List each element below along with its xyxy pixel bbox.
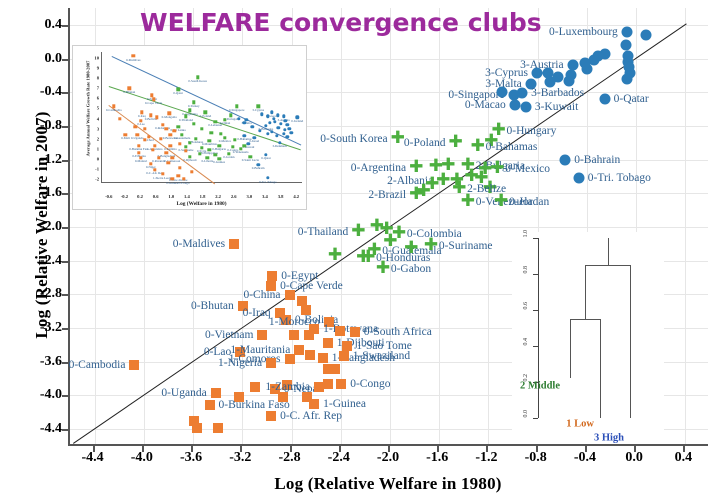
dendrogram-tick-label: 0.6 [523,302,529,318]
dendrogram-stem-middle-low [585,265,586,319]
point-label: 0-Maldives [173,238,225,250]
point-label: 3-Kuwait [535,101,578,113]
y-tick-label: -4.0 [0,387,62,403]
data-point-1-low [266,358,276,368]
inset-point-label: 0-Poland [200,114,212,118]
inset-point-label: 0-Maldives [126,58,141,62]
inset-y-tick-label: 10 [89,56,99,61]
point-label: 0-Bahrain [574,154,620,166]
x-tick-label: -2.8 [278,450,300,466]
data-point-1-low [205,400,215,410]
inset-data-point [155,116,158,119]
data-point-3-high [579,57,590,68]
inset-y-tick-label: 6 [89,96,99,101]
inset-point-label: 0-Lao [137,122,145,126]
y-tick-label: -2.8 [0,286,62,302]
inset-data-point [288,127,291,130]
data-point-2-middle: ✚ [376,263,388,275]
point-label: 0-Congo [350,378,390,390]
y-tick-label: -2.0 [0,219,62,235]
inset-point-label: 3-Cyprus [252,108,264,112]
y-tick-label: 0.4 [0,17,62,33]
x-tick-label: -2.4 [328,450,350,466]
inset-point-label: 0-Lebanon [208,123,222,127]
y-tick-mark [62,193,68,195]
inset-point-label: 0-Bahrain [252,166,265,170]
inset-data-point [143,138,146,141]
inset-x-tick-label: 1.8 [200,194,206,199]
y-tick-mark [62,160,68,162]
y-tick-mark [62,261,68,263]
title-bold-word: WELFARE [140,8,270,37]
inset-point-label: 0-Tri. Tobago [259,180,277,184]
inset-point-label: 0-Qatar [261,156,271,160]
point-label: 1-Guinea [323,398,366,410]
data-point-3-high [563,76,574,87]
point-label: 0-Cambodia [69,359,126,371]
dendrogram-leaf-label-1-low: 1 Low [566,419,594,430]
inset-point-label: 0-Uganda [131,136,144,140]
inset-point-label: 0-Mongolia [162,115,177,119]
inset-data-point [167,161,170,164]
x-tick-label: -4.0 [131,450,153,466]
inset-y-tick-label: 5 [89,106,99,111]
point-label: 0-Macao [465,99,506,111]
data-point-2-middle: ✚ [448,137,460,149]
point-label: 0-Thailand [298,226,348,238]
point-label: 0-Jordan [509,196,549,208]
inset-point-label: 0-Bulgaria [212,147,226,151]
inset-data-point [151,148,154,151]
inset-point-label: 0-Saint Lucia [242,158,259,162]
point-label: 0-Qatar [614,93,649,105]
inset-point-label: 0-Singapore [229,108,245,112]
point-label: 0-Uganda [161,387,206,399]
inset-data-point [178,142,181,145]
data-point-2-middle: ✚ [494,196,506,208]
inset-data-point [276,114,279,117]
inset-point-label: 0-Congo [178,181,189,185]
inset-x-tick-label: 3.8 [278,194,284,199]
x-tick-label: -3.6 [180,450,202,466]
inset-data-point [192,122,195,125]
y-tick-mark [62,294,68,296]
point-label: 1-Nigeria [218,357,262,369]
inset-y-tick-label: 3 [89,126,99,131]
data-point-1-low [211,388,221,398]
inset-data-point [210,131,213,134]
point-label: 0-C. Afr. Rep [280,410,342,422]
inset-y-tick-label: 0 [89,156,99,161]
y-tick-label: -3.2 [0,320,62,336]
data-point-2-middle: ✚ [404,243,416,255]
y-tick-label: -0.4 [0,84,62,100]
inset-data-point [290,131,293,134]
x-gridline [685,8,686,444]
inset-data-point [200,127,203,130]
inset-point-label: 0-Thailand [179,118,193,122]
inset-x-tick-label: 2.6 [231,194,237,199]
data-point-1-low [250,382,260,392]
inset-data-point [219,132,222,135]
inset-point-label: 0-Israel [249,139,259,143]
inset-point-label: 0-Jordan [223,155,234,159]
data-point-1-low [229,239,239,249]
data-point-3-high [573,173,584,184]
point-label: 0-South Korea [320,133,387,145]
data-point-3-high [531,67,542,78]
inset-point-label: 0-Guinea [166,181,178,185]
inset-point-label: 0-Iceland [291,119,303,123]
x-gridline [439,8,440,444]
dendrogram-root-stem [608,238,609,265]
point-label: 2-Brazil [368,189,406,201]
inset-point-label: 0-Qatar [173,91,183,95]
inset-y-tick-label: 1 [89,146,99,151]
inset-data-point [266,132,269,135]
inset-x-tick-label: -0.6 [105,194,112,199]
inset-data-point [184,149,187,152]
x-tick-label: -1.6 [426,450,448,466]
data-point-3-high [520,102,531,113]
point-label: 0-Luxembourg [549,26,618,38]
inset-x-tick-label: 1.4 [184,194,190,199]
data-point-1-low [257,330,267,340]
y-tick-label: -0.8 [0,118,62,134]
point-label: 0-Hungary [507,125,557,137]
inset-y-tick-label: 9 [89,66,99,71]
dendrogram-tick-label: 0.8 [523,266,529,282]
inset-point-label: 1-Argentina [147,147,162,151]
x-tick-label: -3.2 [229,450,251,466]
y-tick-mark [62,59,68,61]
point-label: 0-Argentina [351,162,406,174]
dendrogram-tick-label: 0.0 [523,410,529,426]
data-point-2-middle: ✚ [409,189,421,201]
inset-point-label: 0-Cambodia [106,108,122,112]
inset-x-tick-label: 0.6 [153,194,159,199]
data-point-2-middle: ✚ [356,252,368,264]
point-label: 0-Suriname [439,240,493,252]
title-rest: convergence clubs [279,8,541,37]
data-point-3-high [641,29,652,40]
dendrogram-branch-low [600,319,601,418]
dendrogram-leaf-label-3-high: 3 High [594,433,624,444]
inset-data-point [188,141,191,144]
data-point-2-middle: ✚ [391,133,403,145]
point-label: 0-China [243,289,280,301]
inset-data-point [283,128,286,131]
data-point-1-low [323,379,333,389]
data-point-1-low [305,350,315,360]
y-tick-mark [62,92,68,94]
inset-point-label: 0-Liberia [201,159,213,163]
inset-point-label: 0-Mali [121,136,130,140]
data-point-1-low [323,338,333,348]
data-point-2-middle: ✚ [471,141,483,153]
inset-point-label: 0-South Korea [188,79,207,83]
y-tick-mark [62,395,68,397]
inset-x-tick-label: 0.2 [137,194,143,199]
inset-growth-scatter: Average Annual Welfare Growth Rate 1980-… [72,45,307,210]
inset-data-point [190,170,193,173]
inset-y-tick-label: 8 [89,76,99,81]
x-tick-label: -4.4 [82,450,104,466]
inset-y-tick-label: -2 [89,176,99,181]
inset-point-label: 0-Rwanda [152,159,165,163]
inset-data-point [282,132,285,135]
y-tick-mark [62,328,68,330]
y-tick-mark [62,227,68,229]
x-tick-label: -0.8 [525,450,547,466]
data-point-1-low [330,364,340,374]
inset-point-label: 0-Malawi [135,159,147,163]
data-point-3-high [543,67,554,78]
inset-point-label: 0-Guinea [213,160,225,164]
point-label: 0-Gabon [391,263,431,275]
inset-point-label: 3-Denmark [272,144,287,148]
inset-point-label: 0-Mexico [219,139,231,143]
data-point-3-high [509,99,520,110]
dendrogram-branch-high [630,265,631,418]
y-tick-label: -1.6 [0,185,62,201]
dendrogram-leaf-label-2-middle: 2 Middle [520,381,560,392]
y-tick-mark [62,25,68,27]
data-point-3-high [621,73,632,84]
data-point-1-low [213,423,223,433]
data-point-3-high [620,40,631,51]
data-point-2-middle: ✚ [490,163,502,175]
data-point-1-low [266,411,276,421]
dendrogram-tick-label: 1.0 [523,230,529,246]
dendrogram-tick-label: 0.4 [523,338,529,354]
data-point-2-middle: ✚ [461,196,473,208]
data-point-1-low [294,345,304,355]
y-tick-label: -2.4 [0,253,62,269]
point-label: 0-Mexico [505,163,550,175]
point-label: 0-Bhutan [191,300,234,312]
data-point-1-low [335,326,345,336]
y-tick-label: -1.2 [0,152,62,168]
inset-plot-area: 0-Maldives0-South Korea0-Bhutan0-Qatar0-… [101,52,302,183]
point-label: 0-Lao [204,346,231,358]
data-point-2-middle: ✚ [409,162,421,174]
inset-point-label: 0-Bhutan [123,90,135,94]
y-tick-label: -3.6 [0,354,62,370]
dendrogram-join-middle-low [570,319,601,320]
inset-x-axis-title: Log (Welfare in 1980) [101,201,302,207]
inset-data-point [258,129,261,132]
data-point-1-low [336,379,346,389]
point-label: 0-Tri. Tobago [588,172,651,184]
data-point-3-high [560,154,571,165]
x-tick-label: 0.4 [675,450,693,466]
data-point-1-low [289,330,299,340]
inset-x-tick-label: -0.2 [121,194,128,199]
inset-point-label: 0-Venezuela [233,150,249,154]
data-point-2-middle: ✚ [424,240,436,252]
point-label: 0-Poland [404,137,446,149]
point-label: 0-Iraq [243,307,271,319]
inset-data-point [165,127,168,130]
inset-point-label: 0-Djibouti [183,158,196,162]
inset-data-point [275,134,278,137]
y-tick-label: -4.4 [0,421,62,437]
inset-data-point [273,120,276,123]
point-label: 1-Swaziland [353,350,410,362]
inset-data-point [214,153,217,156]
inset-x-tick-label: 3.4 [262,194,268,199]
data-point-1-low [285,290,295,300]
data-point-1-low [302,392,312,402]
inset-data-point [277,126,280,129]
data-point-1-low [129,360,139,370]
x-axis-title: Log (Relative Welfare in 1980) [68,474,708,494]
inset-data-point [143,127,146,130]
inset-data-point [279,122,282,125]
point-label: 0-Bahamas [486,141,538,153]
x-tick-label: -2.0 [377,450,399,466]
inset-data-point [251,125,254,128]
inset-data-point [198,152,201,155]
y-tick-label: 0.0 [0,51,62,67]
data-point-1-low [342,341,352,351]
inset-y-tick-label: 2 [89,136,99,141]
inset-point-label: 0-Mauritius [202,142,217,146]
data-point-3-high [497,87,508,98]
point-label: 0-Vietnam [205,329,254,341]
data-point-3-high [621,26,632,37]
inset-data-point [268,121,271,124]
data-point-1-low [192,423,202,433]
y-tick-mark [62,126,68,128]
data-point-1-low [267,271,277,281]
inset-data-point [173,129,176,132]
inset-data-point [243,144,246,147]
y-tick-mark [62,429,68,431]
inset-data-point [286,123,289,126]
inset-y-tick-label: 4 [89,116,99,121]
inset-x-tick-label: 2.2 [215,194,221,199]
data-point-1-low [285,354,295,364]
cluster-dendrogram: 0.00.20.40.60.81.02 Middle1 Low3 High [512,232,664,444]
page-title: WELFARE convergence clubs [140,8,540,37]
dendrogram-join-root [585,265,631,266]
data-point-3-high [599,93,610,104]
x-tick-label: -1.2 [475,450,497,466]
inset-data-point [118,117,121,120]
inset-data-point [133,125,136,128]
data-point-2-middle: ✚ [328,250,340,262]
data-point-1-low [350,327,360,337]
inset-x-tick-label: 1.0 [168,194,174,199]
point-label: 3-Barbados [531,87,584,99]
data-point-1-low [339,351,349,361]
inset-data-point [260,113,263,116]
y-tick-mark [62,362,68,364]
inset-y-tick-label: -1 [89,166,99,171]
inset-point-label: 0-Turkey [188,104,200,108]
dendrogram-branch-middle [570,319,571,378]
data-point-1-low [304,330,314,340]
inset-y-tick-label: 7 [89,86,99,91]
x-tick-label: -0.4 [574,450,596,466]
inset-data-point [159,137,162,140]
inset-data-point [233,138,236,141]
inset-x-tick-label: 3.0 [246,194,252,199]
inset-x-tick-label: 4.2 [293,194,299,199]
inset-data-point [178,166,181,169]
x-tick-label: 0.0 [625,450,643,466]
data-point-1-low [318,353,328,363]
dendrogram-tick-mark [533,418,538,419]
inset-data-point [237,117,240,120]
data-point-2-middle: ✚ [351,226,363,238]
inset-point-label: 0-Cape Verde [145,101,162,105]
